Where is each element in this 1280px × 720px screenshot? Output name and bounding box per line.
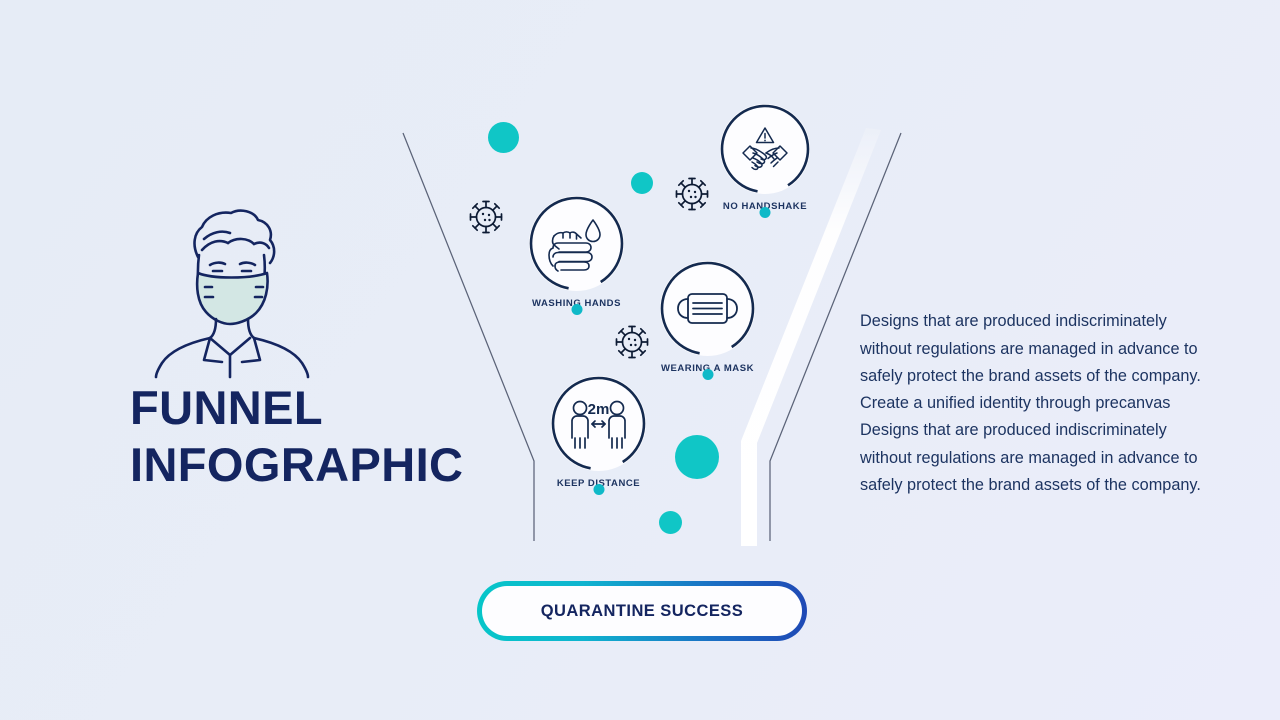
node-wearing-a-mask[interactable]: WEARING A MASK	[660, 261, 755, 374]
page-title-line-1: FUNNEL	[130, 380, 490, 437]
virus-icon-left	[466, 197, 506, 237]
teal-dot-small-bottom	[659, 511, 682, 534]
node-accent-dot	[571, 304, 582, 315]
teal-dot-large-top	[488, 122, 519, 153]
washing-hands-circle[interactable]	[529, 196, 624, 291]
quarantine-success-button-label: QUARANTINE SUCCESS	[541, 602, 743, 621]
no-handshake-circle[interactable]	[720, 104, 810, 194]
wearing-a-mask-circle[interactable]	[660, 261, 755, 356]
node-accent-dot	[702, 369, 713, 380]
no-handshake-icon	[720, 104, 810, 194]
quarantine-success-button[interactable]: QUARANTINE SUCCESS	[477, 581, 807, 641]
face-mask-icon	[660, 261, 755, 356]
washing-hands-icon	[529, 196, 624, 291]
node-accent-dot	[760, 207, 771, 218]
node-accent-dot	[593, 484, 604, 495]
hero-block: FUNNEL INFOGRAPHIC	[130, 195, 490, 494]
quarantine-success-button-inner[interactable]: QUARANTINE SUCCESS	[482, 586, 802, 636]
infographic-slide: FUNNEL INFOGRAPHIC	[0, 0, 1280, 720]
masked-person-illustration	[136, 195, 326, 380]
node-washing-hands[interactable]: WASHING HANDS	[529, 196, 624, 309]
keep-distance-measure: 2m	[588, 401, 610, 418]
node-no-handshake[interactable]: NO HANDSHAKE	[720, 104, 810, 212]
keep-distance-icon: 2m	[551, 376, 646, 471]
page-title: FUNNEL INFOGRAPHIC	[130, 380, 490, 494]
teal-dot-large-lower	[675, 435, 719, 479]
node-keep-distance[interactable]: 2m KEEP DISTANCE	[551, 376, 646, 489]
page-title-line-2: INFOGRAPHIC	[130, 437, 490, 494]
teal-dot-small-upper	[631, 172, 653, 194]
virus-icon-top	[672, 174, 712, 214]
virus-icon-middle	[612, 322, 652, 362]
body-paragraph: Designs that are produced indiscriminate…	[860, 308, 1208, 499]
keep-distance-circle[interactable]: 2m	[551, 376, 646, 471]
